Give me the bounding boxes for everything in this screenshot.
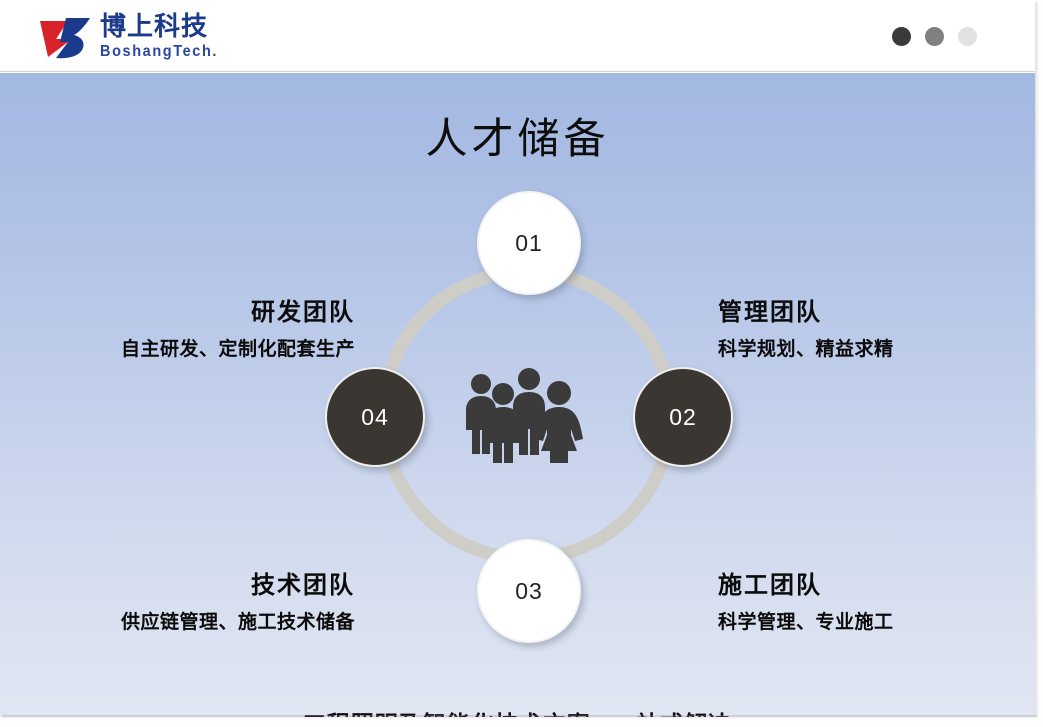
- cycle-node-03[interactable]: 03: [477, 539, 581, 643]
- quadrant-top-left: 研发团队 自主研发、定制化配套生产: [25, 297, 355, 363]
- logo-chinese-name: 博上科技: [100, 12, 300, 42]
- cycle-node-label: 04: [361, 404, 389, 431]
- header-dots: [892, 27, 977, 46]
- slide-shadow-right: [1035, 2, 1039, 717]
- cycle-diagram: 01 02 03 04: [327, 215, 727, 615]
- quadrant-bottom-left: 技术团队 供应链管理、施工技术储备: [25, 570, 355, 636]
- cycle-node-02[interactable]: 02: [633, 367, 733, 467]
- quadrant-title: 技术团队: [25, 570, 355, 600]
- cycle-node-label: 02: [669, 404, 697, 431]
- quadrant-subtitle: 科学规划、精益求精: [718, 335, 1035, 363]
- logo-english-name: BoshangTech.: [100, 42, 300, 61]
- header-band: 博上科技 BoshangTech.: [0, 0, 1035, 72]
- quadrant-title: 研发团队: [25, 297, 355, 327]
- cycle-node-label: 03: [515, 578, 543, 605]
- quadrant-subtitle: 供应链管理、施工技术储备: [25, 608, 355, 636]
- quadrant-top-right: 管理团队 科学规划、精益求精: [718, 297, 1035, 363]
- quadrant-subtitle: 科学管理、专业施工: [718, 608, 1035, 636]
- logo-text: 博上科技 BoshangTech.: [100, 12, 300, 64]
- boshang-b-mark-icon: [38, 15, 94, 61]
- page-title: 人才储备: [0, 105, 1035, 166]
- dot-medium-icon[interactable]: [925, 27, 944, 46]
- cycle-node-label: 01: [515, 230, 543, 257]
- quadrant-title: 施工团队: [718, 570, 1035, 600]
- company-logo[interactable]: 博上科技 BoshangTech.: [38, 12, 298, 64]
- slide-body: 人才储备 研发团队 自主研发、定制化配套生产 管理团队 科学规划、精益求精 技术…: [0, 73, 1035, 717]
- dot-dark-icon[interactable]: [892, 27, 911, 46]
- dot-light-icon[interactable]: [958, 27, 977, 46]
- quadrant-bottom-right: 施工团队 科学管理、专业施工: [718, 570, 1035, 636]
- quadrant-title: 管理团队: [718, 297, 1035, 327]
- group-of-people-icon: [455, 367, 599, 463]
- cycle-node-04[interactable]: 04: [325, 367, 425, 467]
- slide-shadow-bottom: [2, 715, 1037, 719]
- slide-frame: 博上科技 BoshangTech. 人才储备 研发团队 自主研发、定制化配套生产…: [0, 0, 1043, 727]
- cycle-node-01[interactable]: 01: [477, 191, 581, 295]
- quadrant-subtitle: 自主研发、定制化配套生产: [25, 335, 355, 363]
